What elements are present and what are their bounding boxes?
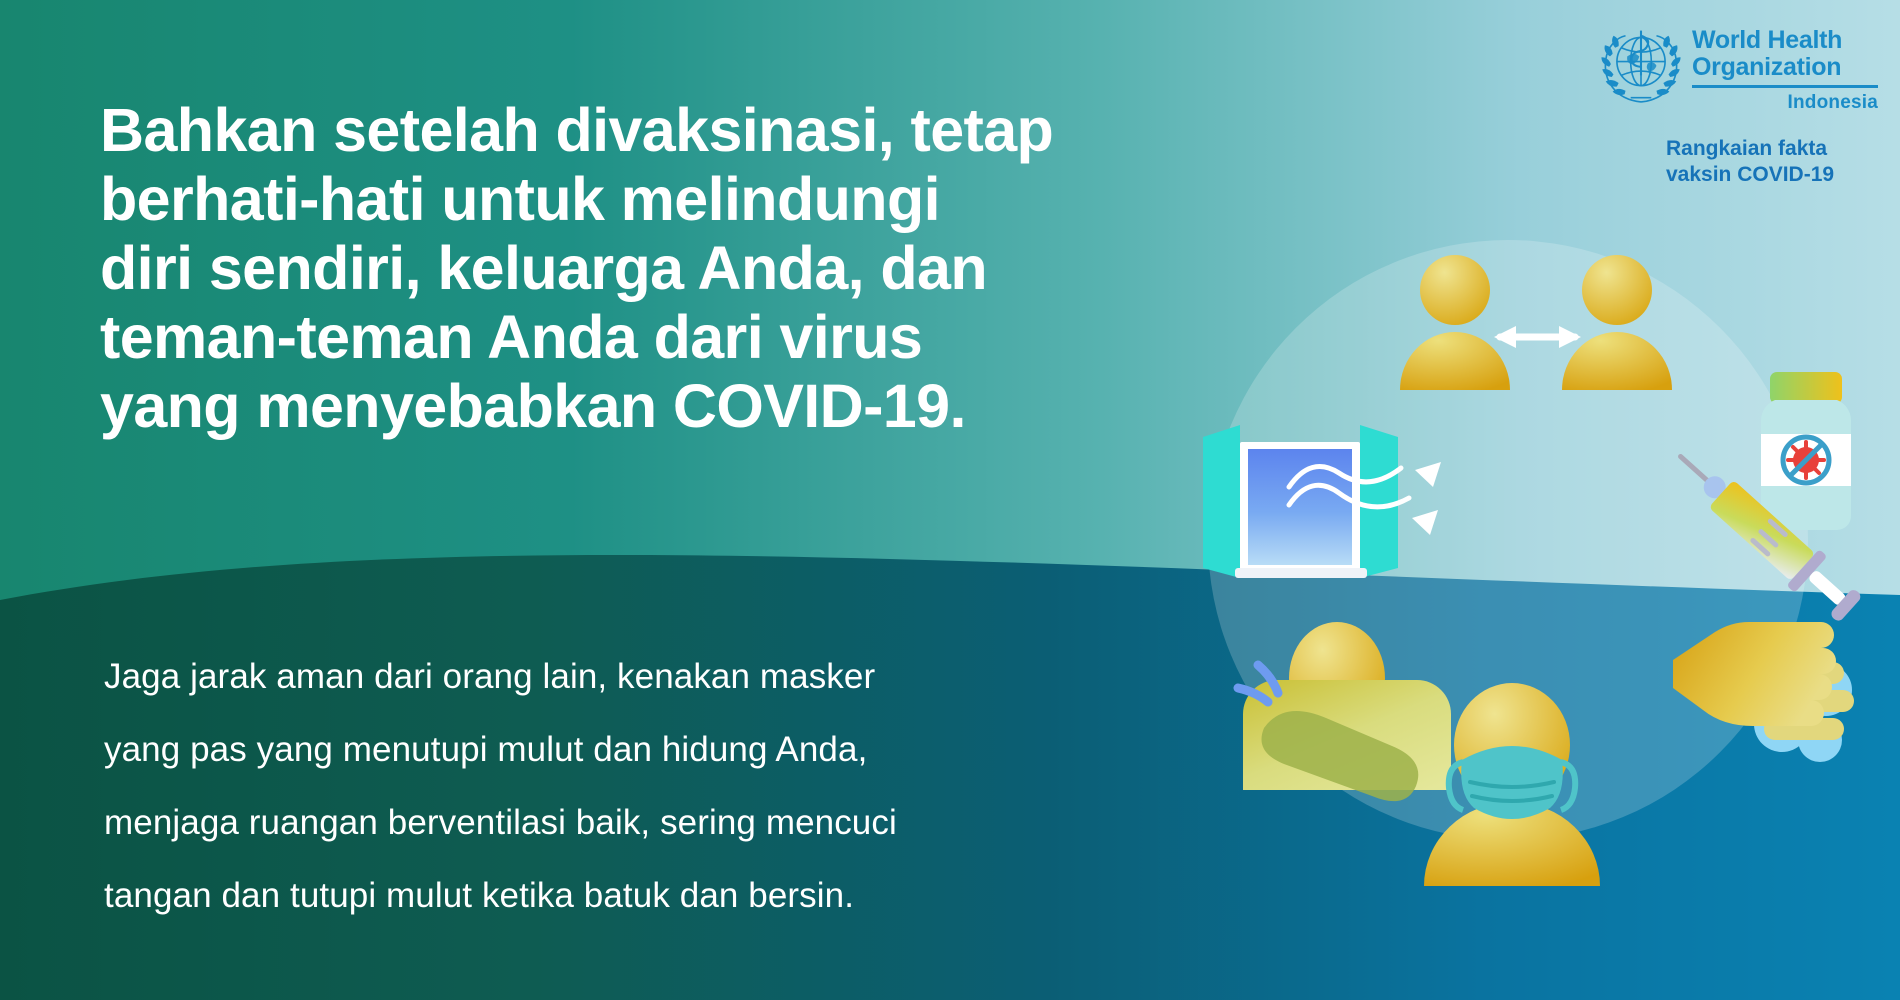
vial-cap <box>1770 372 1842 404</box>
window-pane <box>1248 449 1352 565</box>
body-paragraph: Jaga jarak aman dari orang lain, kenakan… <box>104 640 1184 932</box>
page-title: Bahkan setelah divaksinasi, tetap berhat… <box>100 96 1260 441</box>
person-head-left <box>1420 255 1490 325</box>
brand-org-line1: World Health <box>1692 27 1878 54</box>
no-virus-symbol-icon <box>1783 437 1829 483</box>
who-covid-infographic: Bahkan setelah divaksinasi, tetap berhat… <box>0 0 1900 1000</box>
person-head-right <box>1582 255 1652 325</box>
brand-org-line2: Organization <box>1692 54 1878 81</box>
window-shutter-right <box>1360 425 1398 578</box>
window-shutter-left <box>1203 425 1240 578</box>
window-sill <box>1235 568 1367 578</box>
who-brand-block: World Health Organization Indonesia Rang… <box>1598 22 1884 188</box>
brand-country-label: Indonesia <box>1692 92 1878 114</box>
brand-tagline: Rangkaian fakta vaksin COVID-19 <box>1666 136 1884 188</box>
brand-divider <box>1692 85 1878 88</box>
who-emblem-icon <box>1598 22 1684 108</box>
